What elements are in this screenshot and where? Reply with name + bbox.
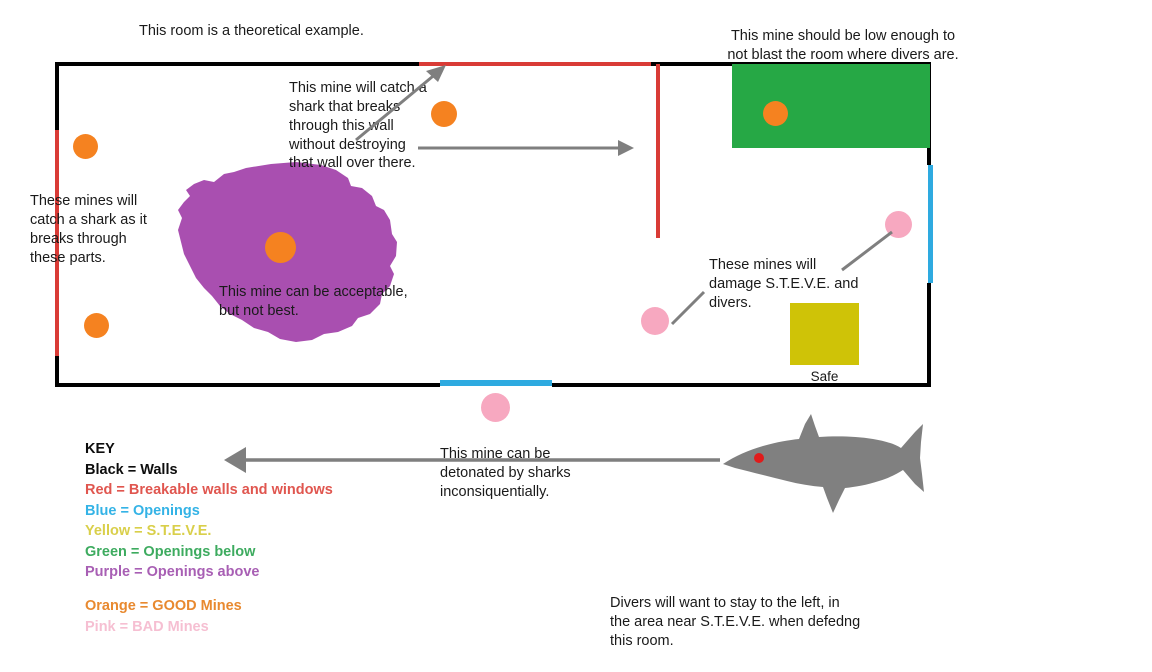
key-item-purple: Purple = Openings above xyxy=(85,562,345,583)
key-item-yellow: Yellow = S.T.E.V.E. xyxy=(85,521,345,542)
key-item-green: Green = Openings below xyxy=(85,542,345,563)
key-item-red: Red = Breakable walls and windows xyxy=(85,480,345,501)
top-mine-arrow xyxy=(350,62,460,147)
steve-block: Safe xyxy=(790,303,859,384)
green-opening-below xyxy=(732,64,930,148)
divers-note: Divers will want to stay to the left, in… xyxy=(610,594,870,651)
wall-right-black-bottom xyxy=(927,283,931,387)
mine-bad-bottom-opening xyxy=(481,393,510,422)
pink-mine-leader-left xyxy=(670,290,708,326)
title-note: This room is a theoretical example. xyxy=(139,22,379,41)
wall-bottom-black-right xyxy=(552,383,931,387)
key-item-orange: Orange = GOOD Mines xyxy=(85,596,345,617)
wall-bottom-blue-opening xyxy=(440,380,552,386)
purple-blob-note: This mine can be acceptable, but not bes… xyxy=(219,283,419,321)
mine-bad-interior xyxy=(641,307,669,335)
diagram-canvas: This room is a theoretical example. This… xyxy=(0,0,1152,672)
left-mines-note: These mines will catch a shark as it bre… xyxy=(30,192,160,267)
shark-to-key-arrow xyxy=(222,443,722,479)
mine-good-left-upper xyxy=(73,134,98,159)
wall-over-there-arrow xyxy=(418,137,640,159)
mine-good-green-opening xyxy=(763,101,788,126)
green-mine-note: This mine should be low enough to not bl… xyxy=(718,27,968,65)
wall-right-blue-opening xyxy=(928,165,933,283)
mine-good-left-lower xyxy=(84,313,109,338)
key-item-blue: Blue = Openings xyxy=(85,501,345,522)
wall-interior-red-breakable xyxy=(656,64,660,238)
key-spacer xyxy=(85,583,345,596)
pink-mine-leader-right xyxy=(840,230,896,272)
wall-bottom-black-left xyxy=(55,383,440,387)
shark-eye-icon xyxy=(754,453,764,463)
wall-left-black-top xyxy=(55,62,59,130)
key-item-pink: Pink = BAD Mines xyxy=(85,617,345,638)
shark-icon xyxy=(715,412,945,517)
mine-good-purple-blob xyxy=(265,232,296,263)
safe-label: Safe xyxy=(790,369,859,384)
